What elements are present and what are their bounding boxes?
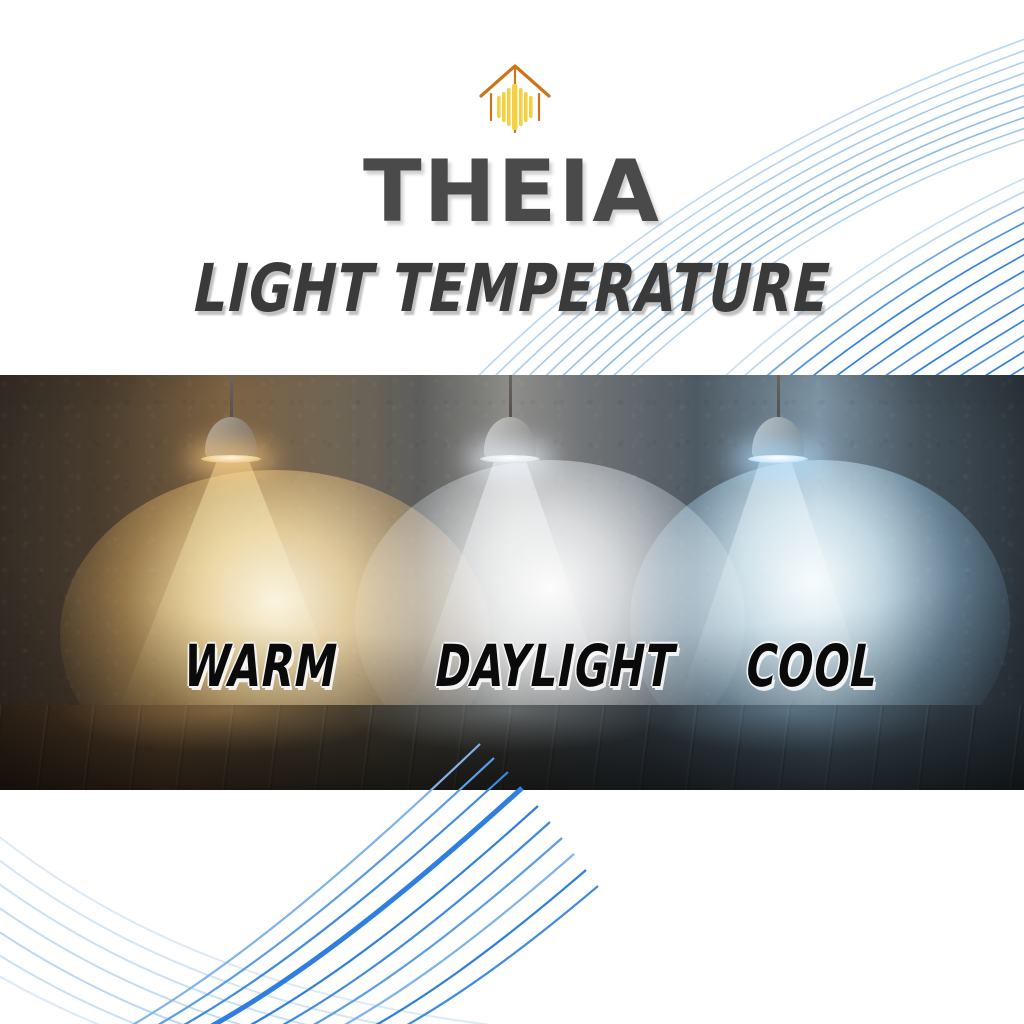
lamp-bulb xyxy=(201,455,261,463)
light-temperature-showcase xyxy=(0,375,1024,790)
brand-wordmark-text: THEIA xyxy=(363,140,661,245)
lamp-bulb xyxy=(480,455,540,463)
poster-canvas: THEIA LIGHT TEMPERATURE xyxy=(0,0,1024,1024)
panel-label-cool: COOL xyxy=(740,632,883,700)
poster-header: THEIA LIGHT TEMPERATURE xyxy=(0,0,1024,375)
wooden-floor xyxy=(0,705,1024,790)
page-title: LIGHT TEMPERATURE xyxy=(0,250,1024,330)
lamp-cord xyxy=(230,375,233,420)
page-title-text: LIGHT TEMPERATURE xyxy=(187,250,838,327)
lamp-bulb xyxy=(748,455,808,463)
floor-shading xyxy=(0,705,1024,790)
panel-label-warm: WARM xyxy=(178,632,343,700)
brand-wordmark: THEIA xyxy=(0,140,1024,245)
lamp-cord xyxy=(509,375,512,420)
crescent-house-lamp-icon xyxy=(453,24,577,148)
lamp-cord xyxy=(777,375,780,420)
panel-label-daylight: DAYLIGHT xyxy=(430,632,681,700)
